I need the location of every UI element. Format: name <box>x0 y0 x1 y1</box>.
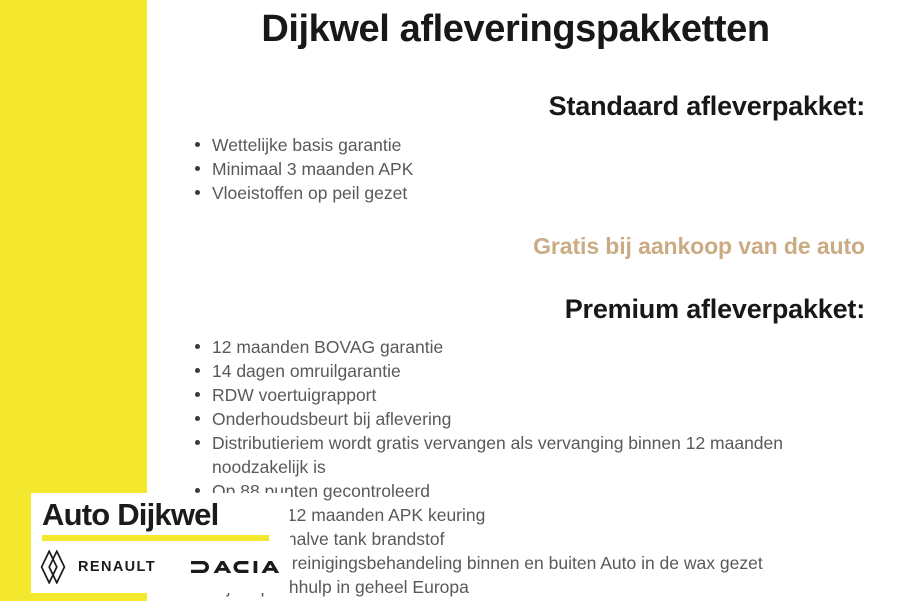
list-item-label: Wettelijke basis garantie <box>212 135 401 155</box>
list-item: Distributieriem wordt gratis vervangen a… <box>166 431 865 479</box>
brand-logos-row: RENAULT <box>40 550 283 584</box>
dealer-logo: Auto Dijkwel RENAULT <box>31 493 290 593</box>
standaard-package-list: Wettelijke basis garantie Minimaal 3 maa… <box>166 122 865 205</box>
page-title: Dijkwel afleveringspakketten <box>166 0 865 48</box>
list-item-label: RDW voertuigrapport <box>212 385 376 405</box>
list-item: Onderhoudsbeurt bij aflevering <box>166 407 865 431</box>
bullet-icon <box>195 416 200 421</box>
delivery-packages-poster: Dijkwel afleveringspakketten Standaard a… <box>0 0 902 601</box>
list-item: RDW voertuigrapport <box>166 383 865 407</box>
bullet-icon <box>195 344 200 349</box>
list-item-label: Complete reinigingsbehandeling binnen en… <box>212 553 763 573</box>
standaard-package-heading: Standaard afleverpakket: <box>166 48 865 122</box>
list-item: Vloeistoffen op peil gezet <box>166 181 865 205</box>
list-item: 12 maanden BOVAG garantie <box>166 335 865 359</box>
list-item-label: 12 maanden BOVAG garantie <box>212 337 443 357</box>
free-with-purchase-tagline: Gratis bij aankoop van de auto <box>166 205 865 260</box>
dacia-wordmark-icon <box>191 559 283 575</box>
list-item-label: 14 dagen omruilgarantie <box>212 361 401 381</box>
list-item: Minimaal 3 maanden APK <box>166 157 865 181</box>
list-item-label: Minimaal 3 maanden APK <box>212 159 413 179</box>
renault-diamond-icon <box>40 550 66 584</box>
bullet-icon <box>195 368 200 373</box>
logo-wordmark: Auto Dijkwel <box>42 497 218 533</box>
renault-label: RENAULT <box>78 559 156 575</box>
bullet-icon <box>195 392 200 397</box>
list-item: Wettelijke basis garantie <box>166 133 865 157</box>
logo-underline-bar <box>42 535 269 541</box>
bullet-icon <box>195 190 200 195</box>
bullet-icon <box>195 142 200 147</box>
list-item-label: Distributieriem wordt gratis vervangen a… <box>212 433 783 477</box>
list-item-label: Vloeistoffen op peil gezet <box>212 183 407 203</box>
list-item-label: Onderhoudsbeurt bij aflevering <box>212 409 451 429</box>
bullet-icon <box>195 166 200 171</box>
list-item: 14 dagen omruilgarantie <box>166 359 865 383</box>
premium-package-heading: Premium afleverpakket: <box>166 260 865 325</box>
bullet-icon <box>195 440 200 445</box>
